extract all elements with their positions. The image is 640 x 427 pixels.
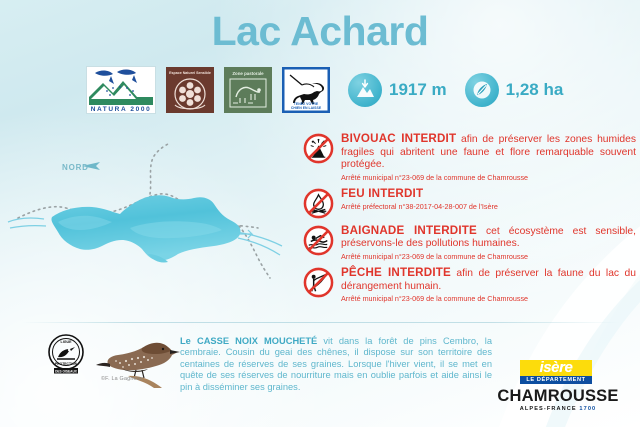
no-fire-icon [303,188,334,219]
rule-item: FEU INTERDIT Arrêté préfectoral n°38-201… [303,187,636,219]
chamrousse-sub-text: ALPES-FRANCE [520,406,580,412]
isere-subtitle: LE DÉPARTEMENT [520,376,592,384]
metric-altitude: 1917 m [348,73,447,107]
rule-item: PÊCHE INTERDITE afin de préserver la fau… [303,266,636,303]
bird-description: Le CASSE NOIX MOUCHETÉ vit dans la forêt… [180,336,492,393]
chamrousse-logo: CHAMROUSSE ALPES-FRANCE 1700 [493,388,623,413]
rule-item: BAIGNADE INTERDITE cet écosystème est se… [303,224,636,261]
rule-highlight: FEU INTERDIT [341,187,423,200]
chamrousse-altitude: 1700 [579,406,596,412]
surface-value: 1,28 ha [506,80,564,100]
surface-icon [465,73,499,107]
rule-text: PÊCHE INTERDITE afin de préserver la fau… [341,267,636,293]
chamrousse-name: CHAMROUSSE [493,388,623,405]
svg-text:NATURA 2000: NATURA 2000 [91,106,152,113]
no-swimming-icon [303,225,334,256]
rule-body: BIVOUAC INTERDIT afin de préserver les z… [341,132,636,182]
rule-reference: Arrêté municipal n°23-069 de la commune … [341,294,636,303]
chien-en-laisse-badge: TENEZ VOTRE CHIEN EN LAISSE [282,67,330,113]
rule-reference: Arrêté préfectoral n°38-2017-04-28-007 d… [341,202,636,211]
no-bivouac-icon [303,133,334,164]
rule-reference: Arrêté municipal n°23-069 de la commune … [341,173,636,182]
svg-text:DES OISEAUX: DES OISEAUX [55,369,78,373]
rule-highlight: PÊCHE INTERDITE [341,266,451,279]
rule-body: PÊCHE INTERDITE afin de préserver la fau… [341,266,636,303]
svg-text:Espace Naturel Sensible: Espace Naturel Sensible [169,71,211,75]
bird-species-name: Le CASSE NOIX MOUCHETÉ [180,336,317,346]
rule-item: BIVOUAC INTERDIT afin de préserver les z… [303,132,636,182]
lpo-bird-logo: LIGUE PROTECTION DES OISEAUX [44,332,88,376]
rule-highlight: BIVOUAC INTERDIT [341,132,456,145]
rules-list: BIVOUAC INTERDIT afin de préserver les z… [303,132,636,308]
rule-body: BAIGNADE INTERDITE cet écosystème est se… [341,224,636,261]
rule-text: FEU INTERDIT [341,188,636,202]
photo-credit: ©F. La Gagneux [101,376,143,382]
rule-text: BIVOUAC INTERDIT afin de préserver les z… [341,133,636,172]
zone-pastorale-badge: Zone pastorale [224,67,272,113]
espace-naturel-sensible-badge: Espace Naturel Sensible [166,67,214,113]
badge-row: NATURA 2000 Espace Naturel Sensible Zone… [86,66,563,114]
svg-text:PROTECTION: PROTECTION [55,362,78,366]
isere-name: isère [520,360,592,376]
rule-text: BAIGNADE INTERDITE cet écosystème est se… [341,225,636,251]
poster-root: Lac Achard NATURA 2000 Espace Naturel Se… [0,0,640,427]
metric-surface: 1,28 ha [465,73,564,107]
rule-highlight: BAIGNADE INTERDITE [341,224,477,237]
footer-divider [22,322,620,323]
svg-text:Zone pastorale: Zone pastorale [232,71,264,76]
lake-map [0,122,300,327]
page-title: Lac Achard [0,8,640,55]
altitude-value: 1917 m [389,80,447,100]
natura-2000-badge: NATURA 2000 [86,66,156,114]
isere-logo: isère LE DÉPARTEMENT [520,360,592,384]
mountain-icon [348,73,382,107]
chamrousse-subtitle: ALPES-FRANCE 1700 [493,405,623,413]
compass-label: NORD [62,163,89,172]
svg-text:CHIEN EN LAISSE: CHIEN EN LAISSE [291,106,322,110]
rule-body: FEU INTERDIT Arrêté préfectoral n°38-201… [341,187,636,212]
no-fishing-icon [303,267,334,298]
rule-reference: Arrêté municipal n°23-069 de la commune … [341,252,636,261]
svg-text:LIGUE: LIGUE [61,340,73,344]
